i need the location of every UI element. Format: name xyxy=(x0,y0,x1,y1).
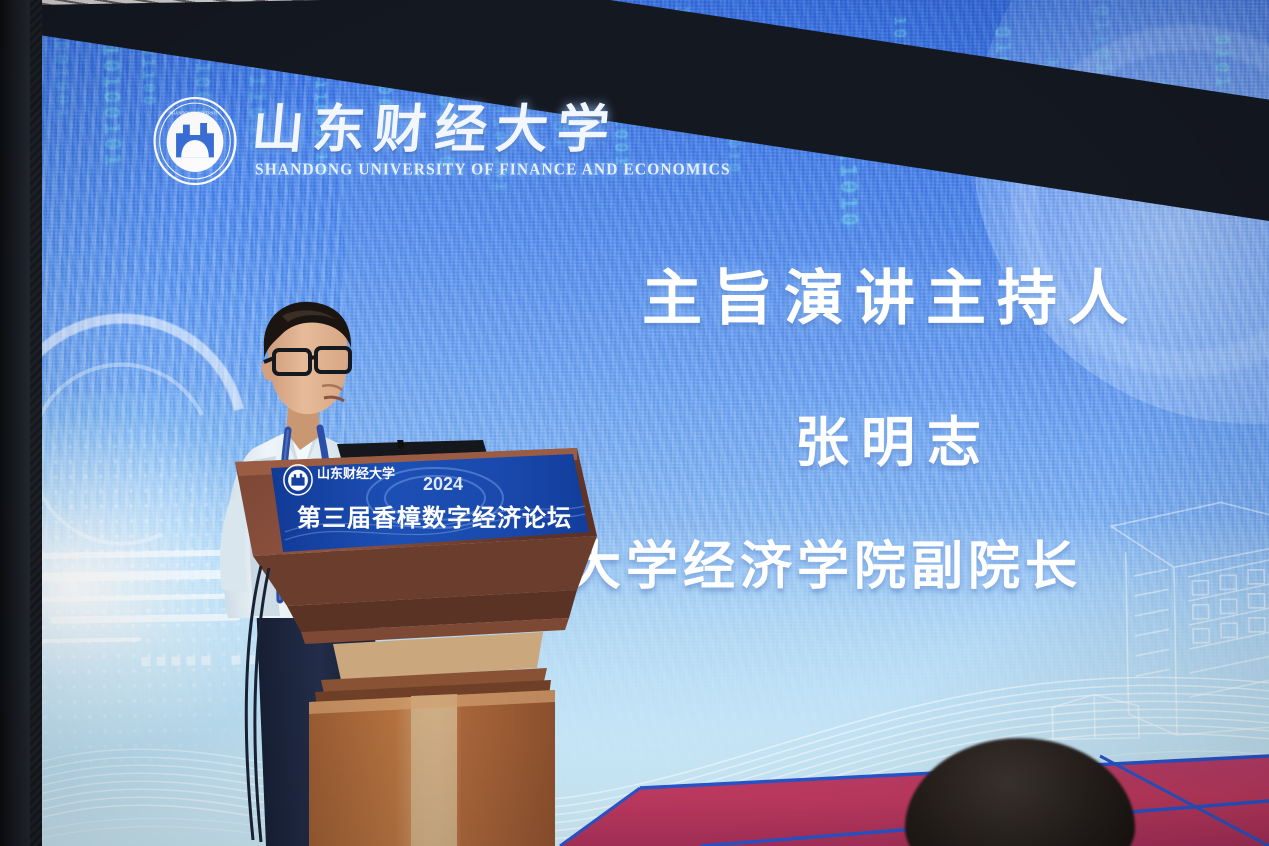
university-name-cn: 山东财经大学 xyxy=(250,103,733,158)
conference-photo-scene: 0100100110100101011011001001001101011010… xyxy=(0,0,1269,846)
podium-year: 2024 xyxy=(423,474,463,494)
university-name-en: SHANDONG UNIVERSITY OF FINANCE AND ECONO… xyxy=(255,160,731,180)
podium: 山东财经大学 2024 第三届香樟数字经济论坛 xyxy=(225,440,605,846)
podium-cable xyxy=(246,566,269,842)
svg-text:SHANDONG UNIVERSITY: SHANDONG UNIVERSITY xyxy=(170,110,221,115)
university-logo: SHANDONG UNIVERSITY 山东财经大学 SHANDONG UNIV… xyxy=(152,95,731,187)
podium-banner-title: 第三届香樟数字经济论坛 xyxy=(297,504,572,532)
headline-name: 张明志 xyxy=(795,398,993,477)
podium-logo-text: 山东财经大学 xyxy=(317,466,395,482)
university-seal-icon: SHANDONG UNIVERSITY xyxy=(152,95,238,187)
headline-role: 主旨演讲主持人 xyxy=(642,250,1139,337)
